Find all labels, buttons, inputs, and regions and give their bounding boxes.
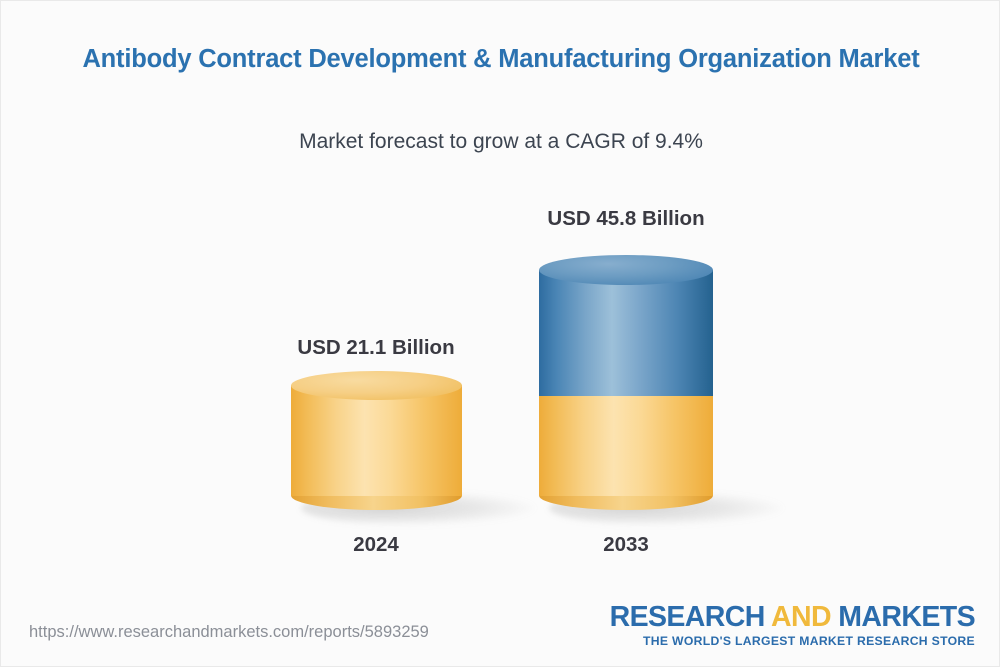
logo-wordmark: RESEARCH AND MARKETS xyxy=(610,602,975,632)
bar-category-label-2033: 2033 xyxy=(526,533,726,557)
logo-tagline: THE WORLD'S LARGEST MARKET RESEARCH STOR… xyxy=(610,634,975,649)
bar-value-label-2033: USD 45.8 Billion xyxy=(501,207,751,231)
logo-word-markets: MARKETS xyxy=(838,601,975,633)
logo-word-and: AND xyxy=(771,601,831,633)
bar-2024-body xyxy=(291,385,462,496)
research-and-markets-logo[interactable]: RESEARCH AND MARKETS THE WORLD'S LARGEST… xyxy=(610,602,975,649)
bar-2033-base-segment xyxy=(539,396,713,496)
bar-2024-top-ellipse xyxy=(291,371,462,400)
bar-cylinder-2033 xyxy=(539,255,713,513)
bar-cylinder-2024 xyxy=(291,371,462,513)
bar-2033-top-ellipse xyxy=(539,255,713,285)
bar-category-label-2024: 2024 xyxy=(276,533,476,557)
bar-chart: USD 21.1 Billion 2024 USD 45.8 Billion 2… xyxy=(1,1,1000,667)
logo-word-research: RESEARCH xyxy=(610,601,765,633)
bar-2033-growth-segment xyxy=(539,270,713,396)
bar-value-label-2024: USD 21.1 Billion xyxy=(251,336,501,360)
infographic-canvas: Antibody Contract Development & Manufact… xyxy=(0,0,1000,667)
report-url[interactable]: https://www.researchandmarkets.com/repor… xyxy=(29,623,429,642)
